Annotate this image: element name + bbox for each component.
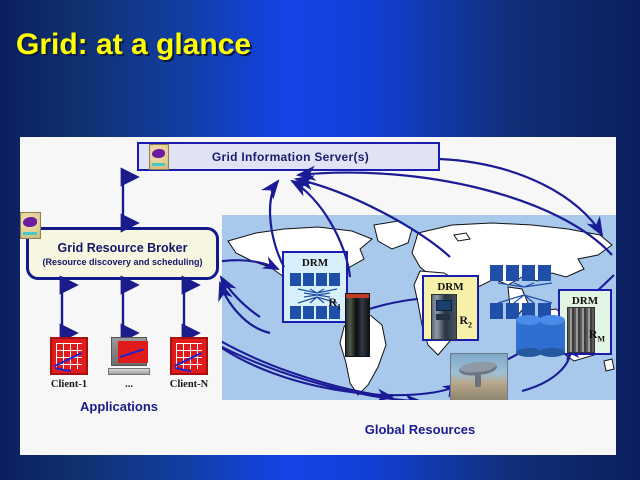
- client-label: Client-N: [162, 379, 216, 390]
- resource-drm-m[interactable]: DRM RM: [558, 289, 612, 355]
- drm-resource-id: RM: [589, 327, 605, 343]
- drm-resource-id: R1: [328, 295, 341, 311]
- page-title: Grid: at a glance: [16, 28, 251, 62]
- world-map: DRM R1: [222, 215, 616, 400]
- radio-telescope-photo: [450, 353, 508, 400]
- grid-resource-broker-box[interactable]: Grid Resource Broker (Resource discovery…: [26, 227, 219, 280]
- database-cylinder-2: [539, 315, 565, 357]
- drm-title: DRM: [284, 257, 346, 269]
- global-resources-caption: Global Resources: [320, 422, 520, 437]
- drm-title: DRM: [424, 281, 477, 293]
- client-label: ...: [102, 379, 156, 390]
- grid-information-server-box[interactable]: Grid Information Server(s): [137, 142, 440, 171]
- globe-icon: [149, 144, 169, 170]
- server-tower-icon: [431, 294, 457, 340]
- chart-application-icon: [170, 337, 208, 375]
- resource-drm-1[interactable]: DRM R1: [282, 251, 348, 323]
- grid-information-server-label: Grid Information Server(s): [169, 150, 438, 164]
- resource-drm-2[interactable]: DRM R2: [422, 275, 479, 341]
- slide: Grid: at a glance: [0, 0, 640, 480]
- client-1[interactable]: Client-1: [42, 337, 96, 390]
- client-n[interactable]: Client-N: [162, 337, 216, 390]
- diagram-panel: DRM R1: [20, 137, 616, 455]
- grid-resource-broker-subtitle: (Resource discovery and scheduling): [42, 257, 202, 267]
- applications-caption: Applications: [64, 399, 174, 414]
- south-america-server-tower: [345, 293, 370, 357]
- drm-resource-id: R2: [459, 313, 472, 329]
- drm-title: DRM: [560, 295, 610, 307]
- chart-application-icon: [50, 337, 88, 375]
- globe-icon: [20, 212, 41, 239]
- client-label: Client-1: [42, 379, 96, 390]
- grid-resource-broker-title: Grid Resource Broker: [58, 241, 188, 255]
- client-ellipsis: ...: [102, 337, 156, 390]
- asia-cluster-nodes: [490, 265, 560, 319]
- desktop-computer-icon: [108, 337, 150, 375]
